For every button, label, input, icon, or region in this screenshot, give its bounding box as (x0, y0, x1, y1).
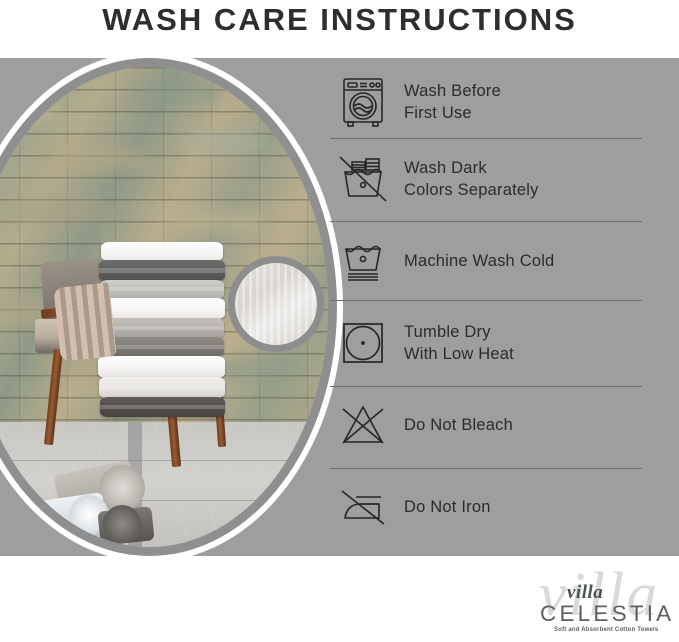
brand-name-text: CELESTIA (540, 601, 674, 627)
machine-wash-cold-icon (330, 237, 396, 285)
page-title: WASH CARE INSTRUCTIONS (0, 0, 679, 40)
towel-stack-item (98, 356, 225, 378)
washing-machine-icon (330, 76, 396, 128)
instruction-label: Wash Before First Use (396, 80, 501, 124)
instruction-line: Do Not Iron (404, 496, 491, 518)
instruction-line: First Use (404, 102, 501, 124)
instruction-row-wash-dark-colors-separately: Wash Dark Colors Separately (330, 146, 642, 212)
instruction-label: Do Not Iron (396, 496, 491, 518)
list-divider (330, 300, 642, 301)
instruction-label: Machine Wash Cold (396, 250, 554, 272)
plaid-throw (53, 282, 116, 361)
magnifier-texture (235, 263, 317, 345)
towel-stack-item (99, 377, 225, 398)
instruction-line: Colors Separately (404, 179, 539, 201)
towel-stack-item (99, 260, 225, 281)
towel-stack-item (100, 397, 225, 417)
list-divider (330, 468, 642, 469)
instruction-label: Wash Dark Colors Separately (396, 157, 539, 201)
instruction-line: With Low Heat (404, 343, 514, 365)
towel-stack-item (98, 298, 225, 319)
instruction-row-do-not-bleach: Do Not Bleach (330, 394, 642, 456)
brand-logo: villa villa CELESTIA Soft and Absorbent … (533, 566, 679, 642)
instruction-line: Wash Before (404, 80, 501, 102)
do-not-iron-icon (330, 484, 396, 530)
rolled-towel-end (103, 505, 141, 543)
instruction-line: Machine Wash Cold (404, 250, 554, 272)
instruction-line: Tumble Dry (404, 321, 514, 343)
towel-stack-item (99, 318, 224, 338)
instruction-label: Tumble Dry With Low Heat (396, 321, 514, 365)
list-divider (330, 221, 642, 222)
instruction-row-tumble-dry-low-heat: Tumble Dry With Low Heat (330, 310, 642, 376)
instruction-row-machine-wash-cold: Machine Wash Cold (330, 230, 642, 292)
towel-texture-magnifier (228, 256, 324, 352)
instruction-line: Do Not Bleach (404, 414, 513, 436)
list-divider (330, 386, 642, 387)
tumble-dry-low-icon (330, 319, 396, 367)
do-not-bleach-icon (330, 401, 396, 449)
wash-separately-icon (330, 154, 396, 204)
instruction-line: Wash Dark (404, 157, 539, 179)
instruction-row-do-not-iron: Do Not Iron (330, 476, 642, 538)
instruction-label: Do Not Bleach (396, 414, 513, 436)
towel-stack-item (100, 337, 224, 357)
wash-care-instruction-list: Wash Before First Use Wash Dark Colors S… (330, 62, 645, 552)
list-divider (330, 138, 642, 139)
towel-stack-item (100, 280, 224, 299)
instruction-row-wash-before-first-use: Wash Before First Use (330, 68, 642, 136)
brand-tagline-text: Soft and Absorbent Cotton Towels (554, 627, 658, 633)
towel-stack-item (101, 242, 223, 261)
